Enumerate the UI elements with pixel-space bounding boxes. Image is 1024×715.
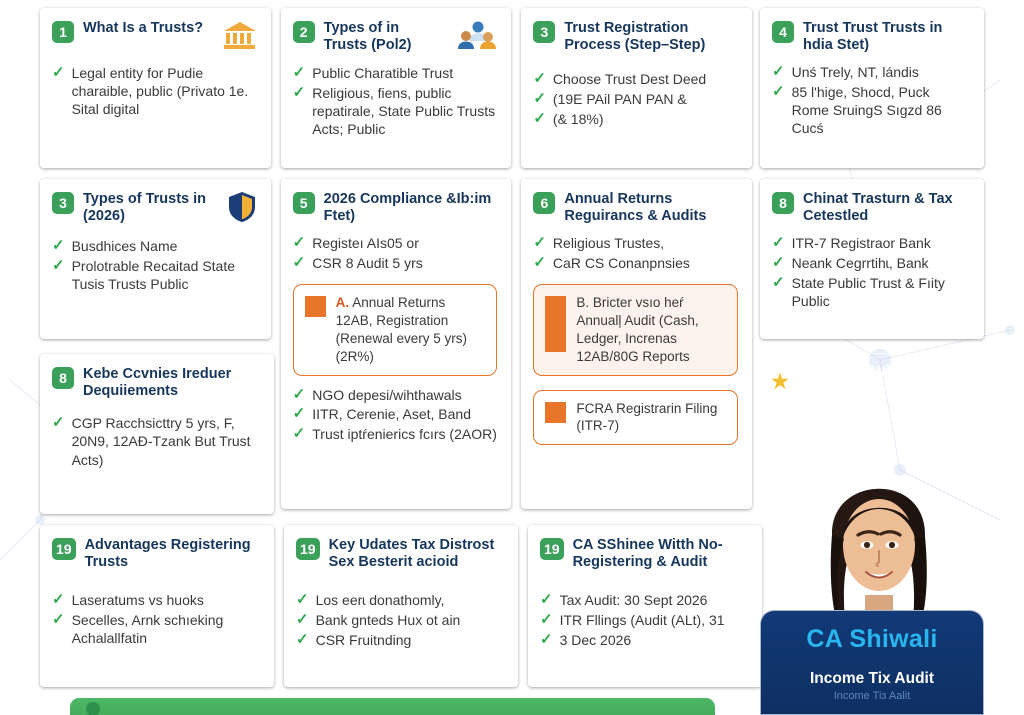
list-item: ✓(19E PAil PAN PAN &: [533, 90, 738, 109]
bullet-text: Legal entity for Pudie charaible, public…: [72, 64, 257, 119]
card-ca-deadlines-title: CA SShinee Witth No- Registering & Audit: [573, 537, 748, 571]
check-icon: ✓: [296, 611, 309, 630]
card-annual-returns-title: Annual Returns Reguirancs & Audits: [564, 191, 738, 225]
card-requirements-head: 8 Kebe Ccvnies Ireduer Dequiiements: [52, 366, 260, 400]
card-5-bullets: ✓Busdhices Name ✓Prolotrable Recaitad St…: [52, 237, 257, 293]
check-icon: ✓: [52, 237, 65, 256]
list-item: ✓85 l'hige, Shocd, Puck Rome SruingS Sıg…: [772, 83, 970, 138]
bullet-text: ITR Fllings (Audit (ALt), 31: [560, 611, 748, 629]
card-key-updates-number: 19: [296, 538, 320, 560]
card-key-updates-bullets: ✓Los eerɩ donathomly, ✓Bank ɡnteds Hux o…: [296, 591, 504, 649]
check-icon: ✓: [533, 234, 546, 253]
bullet-text: Bank ɡnteds Hux ot ain: [316, 611, 504, 629]
card-4[interactable]: 4 Trust Trust Trusts in hdia Stet) ✓Unś …: [760, 8, 984, 168]
callout-fcra[interactable]: FCRA Registrarin Filing (ITR-7): [533, 390, 738, 446]
bullet-text: CSR 8 Audit 5 yrs: [312, 254, 497, 272]
bullet-text: State Public Trust & Fıity Public: [792, 274, 970, 310]
list-item: ✓Registeı AIs05 or: [293, 234, 498, 253]
card-5-title: Types of Trusts in (2026): [83, 191, 214, 225]
list-item: ✓Tax Audit: 30 Sept 2026: [540, 591, 748, 610]
list-item: ✓Laseratums vs huoks: [52, 591, 260, 610]
card-compliance-number: 5: [293, 192, 315, 214]
check-icon: ✓: [52, 64, 65, 83]
check-icon: ✓: [296, 631, 309, 650]
list-item: ✓Choose Trust Dest Deed: [533, 70, 738, 89]
callout-text: A. Annual Returns 12AB, Registration (Re…: [336, 294, 486, 366]
check-icon: ✓: [52, 591, 65, 610]
bullet-text: CGP Racchsicttry 5 yrs, F, 20N9, 12AĐ-Tz…: [72, 414, 260, 469]
card-requirements-number: 8: [52, 367, 74, 389]
card-2-title: Types of in Trusts (Pol2): [324, 20, 445, 54]
card-4-bullets: ✓Unś Trely, NT, lándis ✓85 l'hige, Shocd…: [772, 63, 970, 137]
check-icon: ✓: [293, 425, 306, 444]
bullet-text: Public Charatible Trust: [312, 64, 497, 82]
callout-audit[interactable]: B. Bricter vsıo heŕ Annualļ Audit (Cash,…: [533, 284, 738, 376]
card-1-number: 1: [52, 21, 74, 43]
check-icon: ✓: [533, 90, 546, 109]
card-1[interactable]: 1 What Is a Trusts? ✓Leg: [40, 8, 271, 168]
callout-body: B. Bricter vsıo heŕ Annualļ Audit (Cash,…: [576, 295, 698, 364]
card-ca-deadlines-number: 19: [540, 538, 564, 560]
card-compliance[interactable]: 5 2026 Compliance &Ib:im Ftet) ✓Registeı…: [281, 179, 512, 509]
list-item: ✓(& 18%): [533, 110, 738, 129]
bullet-text: (& 18%): [553, 110, 738, 128]
bullet-text: 85 l'hige, Shocd, Puck Rome SruingS Sıgz…: [792, 83, 970, 138]
list-item: ✓CSR Fruitnding: [296, 631, 504, 650]
card-compliance-title: 2026 Compliance &Ib:im Ftet): [324, 191, 498, 225]
bullet-text: Unś Trely, NT, lándis: [792, 63, 970, 81]
card-ca-deadlines[interactable]: 19 CA SShinee Witth No- Registering & Au…: [528, 525, 762, 687]
bullet-text: Laseratums vs huoks: [72, 591, 260, 609]
bullet-text: CaR CS Conanpnsies: [553, 254, 738, 272]
bullet-text: Trust iptŕenierics fcırs (2AOR): [312, 425, 497, 443]
check-icon: ✓: [52, 257, 65, 276]
cta-line-2: for FY 2025—206?: [797, 382, 922, 398]
bank-icon: [223, 20, 257, 55]
card-3-number: 3: [533, 21, 555, 43]
list-item: ✓CGP Racchsicttry 5 yrs, F, 20N9, 12AĐ-T…: [52, 414, 260, 469]
bullet-text: (19E PAil PAN PAN &: [553, 90, 738, 108]
cta-need-help[interactable]: ★ Need Help With Audit for FY 2025—206?: [760, 353, 984, 410]
card-annual-returns-bullets: ✓Religious Trustes, ✓CaR CS Conanpnsies: [533, 234, 738, 273]
check-icon: ✓: [772, 63, 785, 82]
card-5-number: 3: [52, 192, 74, 214]
shield-icon: [227, 191, 257, 228]
bullet-text: ITR-7 Registraor Bank: [792, 234, 970, 252]
card-requirements-bullets: ✓CGP Racchsicttry 5 yrs, F, 20N9, 12AĐ-T…: [52, 414, 260, 469]
card-advantages-number: 19: [52, 538, 76, 560]
card-2-number: 2: [293, 21, 315, 43]
check-icon: ✓: [293, 84, 306, 103]
callout-text: B. Bricter vsıo heŕ Annualļ Audit (Cash,…: [576, 294, 726, 366]
bullet-text: Choose Trust Dest Deed: [553, 70, 738, 88]
card-1-bullets: ✓Legal entity for Pudie charaible, publi…: [52, 64, 257, 119]
list-item: ✓Trust iptŕenierics fcırs (2AOR): [293, 425, 498, 444]
card-advantages-head: 19 Advantages Registering Trusts: [52, 537, 260, 571]
callout-body: Annual Returns 12AB, Registration (Renew…: [336, 295, 467, 364]
check-icon: ✓: [293, 405, 306, 424]
check-icon: ✓: [533, 70, 546, 89]
bullet-text: Los eerɩ donathomly,: [316, 591, 504, 609]
orange-square-icon: [545, 402, 566, 423]
card-4-number: 4: [772, 21, 794, 43]
card-5[interactable]: 3 Types of Trusts in (2026) ✓Busdhices N…: [40, 179, 271, 339]
star-icon: ★: [771, 372, 789, 392]
callout-annual-returns[interactable]: A. Annual Returns 12AB, Registration (Re…: [293, 284, 498, 376]
card-advantages-title: Advantages Registering Trusts: [85, 537, 260, 571]
list-item: ✓Prolotrable Recaitad State Tusis Trusts…: [52, 257, 257, 293]
card-3[interactable]: 3 Trust Registration Process (Step–Step)…: [521, 8, 752, 168]
orange-square-icon: [305, 296, 326, 317]
card-compliance-bullets: ✓Registeı AIs05 or ✓CSR 8 Audit 5 yrs: [293, 234, 498, 273]
presenter-role: Income Tix Audit: [771, 670, 973, 688]
bottom-bar-dot-icon: [86, 702, 100, 715]
callout-lead: A.: [336, 295, 350, 310]
right-column: 4 Trust Trust Trusts in hdia Stet) ✓Unś …: [760, 8, 984, 410]
bullet-text: Tax Audit: 30 Sept 2026: [560, 591, 748, 609]
bullet-text: Religious Trustes,: [553, 234, 738, 252]
presenter-subrole: Income Tiɜ Aalit: [771, 690, 973, 702]
list-item: ✓IITR, Cerenie, Aset, Band: [293, 405, 498, 424]
card-annual-returns-head: 6 Annual Returns Reguirancs & Audits: [533, 191, 738, 225]
list-item: ✓Legal entity for Pudie charaible, publi…: [52, 64, 257, 119]
card-8-number: 8: [772, 192, 794, 214]
list-item: ✓Secelles, Arnk schıeking Achalallfatin: [52, 611, 260, 647]
card-row-1: 1 What Is a Trusts? ✓Leg: [40, 8, 752, 168]
presenter-name: CA Shiwali: [771, 625, 973, 654]
bullet-text: Prolotrable Recaitad State Tusis Trusts …: [72, 257, 257, 293]
bullet-text: NGO depesi/wihthawals: [312, 386, 497, 404]
card-1-title: What Is a Trusts?: [83, 20, 210, 37]
card-key-updates[interactable]: 19 Key Udates Tax Distrost Sex Besterit …: [284, 525, 518, 687]
card-ca-deadlines-bullets: ✓Tax Audit: 30 Sept 2026 ✓ITR Fllings (A…: [540, 591, 748, 649]
check-icon: ✓: [293, 386, 306, 405]
check-icon: ✓: [293, 254, 306, 273]
check-icon: ✓: [296, 591, 309, 610]
check-icon: ✓: [533, 110, 546, 129]
cta-text: Need Help With Audit for FY 2025—206?: [797, 364, 944, 399]
card-3-head: 3 Trust Registration Process (Step–Step): [533, 20, 738, 54]
card-compliance-bullets-2: ✓NGO depesi/wihthawals ✓IITR, Cerenie, A…: [293, 386, 498, 444]
list-item: ✓CSR 8 Audit 5 yrs: [293, 254, 498, 273]
bottom-green-bar: [70, 698, 715, 715]
list-item: ✓Public Charatible Trust: [293, 64, 498, 83]
list-item: ✓State Public Trust & Fıity Public: [772, 274, 970, 310]
card-2[interactable]: 2 Types of in Trusts (Pol2) ✓Public Char…: [281, 8, 512, 168]
bullet-text: Secelles, Arnk schıeking Achalallfatin: [72, 611, 260, 647]
bullet-text: Religious, fiens, public repatirale, Sta…: [312, 84, 497, 139]
callout-text: FCRA Registrarin Filing (ITR-7): [576, 400, 726, 436]
card-compliance-head: 5 2026 Compliance &Ib:im Ftet): [293, 191, 498, 225]
bullet-text: Busdhices Name: [72, 237, 257, 255]
list-item: ✓Busdhices Name: [52, 237, 257, 256]
list-item: ✓Unś Trely, NT, lándis: [772, 63, 970, 82]
bullet-text: 3 Dec 2026: [560, 631, 748, 649]
card-8[interactable]: 8 Chinat Trasturn & Tax Cetestled ✓ITR-7…: [760, 179, 984, 339]
orange-square-icon: [545, 296, 566, 352]
check-icon: ✓: [540, 611, 553, 630]
card-requirements-title: Kebe Ccvnies Ireduer Dequiiements: [83, 366, 260, 400]
card-2-bullets: ✓Public Charatible Trust ✓Religious, fie…: [293, 64, 498, 138]
card-8-bullets: ✓ITR-7 Registraor Bank ✓Neank Cegrrtihɩ,…: [772, 234, 970, 310]
card-1-head: 1 What Is a Trusts?: [52, 20, 257, 55]
check-icon: ✓: [772, 83, 785, 102]
list-item: ✓Religious Trustes,: [533, 234, 738, 253]
bullet-text: Neank Cegrrtihɩ, Bank: [792, 254, 970, 272]
card-5-head: 3 Types of Trusts in (2026): [52, 191, 257, 228]
cta-line-1: Need Help With Audit: [797, 364, 944, 380]
card-key-updates-title: Key Udates Tax Distrost Sex Besterit aci…: [329, 537, 504, 571]
check-icon: ✓: [52, 414, 65, 433]
check-icon: ✓: [533, 254, 546, 273]
presenter-name-card: CA Shiwali Income Tix Audit Income Tiɜ A…: [760, 610, 984, 715]
list-item: ✓Religious, fiens, public repatirale, St…: [293, 84, 498, 139]
card-advantages-bullets: ✓Laseratums vs huoks ✓Secelles, Arnk sch…: [52, 591, 260, 647]
bullet-text: IITR, Cerenie, Aset, Band: [312, 405, 497, 423]
callout-body: FCRA Registrarin Filing (ITR-7): [576, 401, 717, 434]
card-advantages[interactable]: 19 Advantages Registering Trusts ✓Lasera…: [40, 525, 274, 687]
list-item: ✓CaR CS Conanpnsies: [533, 254, 738, 273]
bullet-text: Registeı AIs05 or: [312, 234, 497, 252]
check-icon: ✓: [293, 64, 306, 83]
list-item: ✓ITR Fllings (Audit (ALt), 31: [540, 611, 748, 630]
card-annual-returns-number: 6: [533, 192, 555, 214]
card-key-updates-head: 19 Key Udates Tax Distrost Sex Besterit …: [296, 537, 504, 571]
list-item: ✓Neank Cegrrtihɩ, Bank: [772, 254, 970, 273]
check-icon: ✓: [52, 611, 65, 630]
card-requirements[interactable]: 8 Kebe Ccvnies Ireduer Dequiiements ✓CGP…: [40, 354, 274, 514]
card-3-title: Trust Registration Process (Step–Step): [564, 20, 738, 54]
check-icon: ✓: [540, 591, 553, 610]
list-item: ✓ITR-7 Registraor Bank: [772, 234, 970, 253]
check-icon: ✓: [772, 274, 785, 293]
bullet-text: CSR Fruitnding: [316, 631, 504, 649]
card-2-head: 2 Types of in Trusts (Pol2): [293, 20, 498, 55]
card-row-3: 19 Advantages Registering Trusts ✓Lasera…: [40, 525, 762, 687]
list-item: ✓Los eerɩ donathomly,: [296, 591, 504, 610]
card-4-head: 4 Trust Trust Trusts in hdia Stet): [772, 20, 970, 54]
people-icon: [457, 20, 497, 55]
list-item: ✓NGO depesi/wihthawals: [293, 386, 498, 405]
check-icon: ✓: [293, 234, 306, 253]
list-item: ✓Bank ɡnteds Hux ot ain: [296, 611, 504, 630]
check-icon: ✓: [772, 234, 785, 253]
list-item: ✓3 Dec 2026: [540, 631, 748, 650]
card-annual-returns[interactable]: 6 Annual Returns Reguirancs & Audits ✓Re…: [521, 179, 752, 509]
check-icon: ✓: [540, 631, 553, 650]
infographic-root: 1 What Is a Trusts? ✓Leg: [0, 0, 1024, 715]
card-grid: 1 What Is a Trusts? ✓Leg: [40, 8, 752, 509]
card-ca-deadlines-head: 19 CA SShinee Witth No- Registering & Au…: [540, 537, 748, 571]
card-3-bullets: ✓Choose Trust Dest Deed ✓(19E PAil PAN P…: [533, 70, 738, 128]
check-icon: ✓: [772, 254, 785, 273]
card-8-title: Chinat Trasturn & Tax Cetestled: [803, 191, 970, 225]
card-4-title: Trust Trust Trusts in hdia Stet): [803, 20, 970, 54]
card-8-head: 8 Chinat Trasturn & Tax Cetestled: [772, 191, 970, 225]
